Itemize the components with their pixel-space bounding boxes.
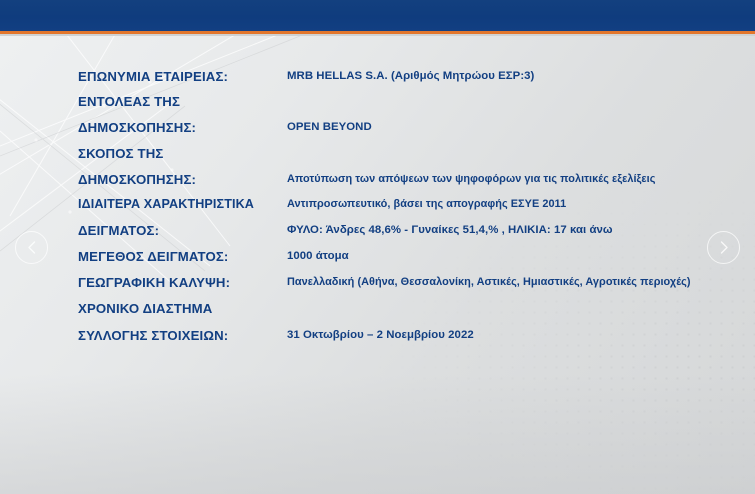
row-label: ΔΕΙΓΜΑΤΟΣ:: [78, 222, 159, 239]
row-value: Αποτύπωση των απόψεων των ψηφοφόρων για …: [287, 171, 655, 188]
row-label: ΙΔΙΑΙΤΕΡΑ ΧΑΡΑΚΤΗΡΙΣΤΙΚΑ: [78, 196, 254, 213]
slide-header: [0, 0, 755, 31]
row-value: MRB HELLAS S.A. (Αριθμός Μητρώου ΕΣΡ:3): [287, 68, 534, 85]
presentation-slide: Η ΤΑΥΤΟΤΗΤΑ ΤΗΣ ΕΡΕΥΝΑΣ OPEN BEYOND MRB: [0, 0, 755, 494]
row-label: ΔΗΜΟΣΚΟΠΗΣΗΣ:: [78, 119, 196, 136]
table-row: ΙΔΙΑΙΤΕΡΑ ΧΑΡΑΚΤΗΡΙΣΤΙΚΑΑντιπροσωπευτικό…: [0, 196, 755, 222]
table-row: ΓΕΩΓΡΑΦΙΚΗ ΚΑΛΥΨΗ:Πανελλαδική (Αθήνα, Θε…: [0, 274, 755, 300]
row-label: ΔΗΜΟΣΚΟΠΗΣΗΣ:: [78, 171, 196, 188]
table-row: ΣΥΛΛΟΓΗΣ ΣΤΟΙΧΕΙΩΝ:31 Οκτωβρίου – 2 Νοεμ…: [0, 327, 755, 353]
table-row: ΧΡΟΝΙΚΟ ΔΙΑΣΤΗΜΑ: [0, 300, 755, 326]
table-row: ΜΕΓΕΘΟΣ ΔΕΙΓΜΑΤΟΣ:1000 άτομα: [0, 248, 755, 274]
row-value: Πανελλαδική (Αθήνα, Θεσσαλονίκη, Αστικές…: [287, 274, 691, 291]
row-label: ΓΕΩΓΡΑΦΙΚΗ ΚΑΛΥΨΗ:: [78, 274, 230, 291]
table-row: ΕΝΤΟΛΕΑΣ ΤΗΣ: [0, 93, 755, 119]
row-value: ΦΥΛΟ: Άνδρες 48,6% - Γυναίκες 51,4,% , Η…: [287, 222, 613, 239]
table-row: ΔΗΜΟΣΚΟΠΗΣΗΣ:Αποτύπωση των απόψεων των ψ…: [0, 171, 755, 197]
row-label: ΣΥΛΛΟΓΗΣ ΣΤΟΙΧΕΙΩΝ:: [78, 327, 228, 344]
table-row: ΣΚΟΠΟΣ ΤΗΣ: [0, 145, 755, 171]
table-row: ΔΗΜΟΣΚΟΠΗΣΗΣ:OPEN BEYOND: [0, 119, 755, 145]
row-label: ΣΚΟΠΟΣ ΤΗΣ: [78, 145, 163, 162]
row-label: ΜΕΓΕΘΟΣ ΔΕΙΓΜΑΤΟΣ:: [78, 248, 228, 265]
row-label: ΕΠΩΝΥΜΙΑ ΕΤΑΙΡΕΙΑΣ:: [78, 68, 228, 85]
row-value: OPEN BEYOND: [287, 119, 372, 136]
chevron-left-icon: [25, 240, 39, 255]
row-value: 31 Οκτωβρίου – 2 Νοεμβρίου 2022: [287, 327, 474, 344]
table-row: ΕΠΩΝΥΜΙΑ ΕΤΑΙΡΕΙΑΣ:MRB HELLAS S.A. (Αριθ…: [0, 68, 755, 94]
row-value: Αντιπροσωπευτικό, βάσει της απογραφής ΕΣ…: [287, 196, 566, 213]
row-label: ΧΡΟΝΙΚΟ ΔΙΑΣΤΗΜΑ: [78, 300, 212, 317]
chevron-right-icon: [717, 240, 731, 255]
previous-slide-button[interactable]: [15, 231, 48, 264]
survey-identity-table: ΕΠΩΝΥΜΙΑ ΕΤΑΙΡΕΙΑΣ:MRB HELLAS S.A. (Αριθ…: [0, 36, 755, 494]
header-gray-rule: [0, 34, 755, 36]
table-row: ΔΕΙΓΜΑΤΟΣ:ΦΥΛΟ: Άνδρες 48,6% - Γυναίκες …: [0, 222, 755, 248]
row-value: 1000 άτομα: [287, 248, 349, 265]
row-label: ΕΝΤΟΛΕΑΣ ΤΗΣ: [78, 93, 180, 110]
next-slide-button[interactable]: [707, 231, 740, 264]
